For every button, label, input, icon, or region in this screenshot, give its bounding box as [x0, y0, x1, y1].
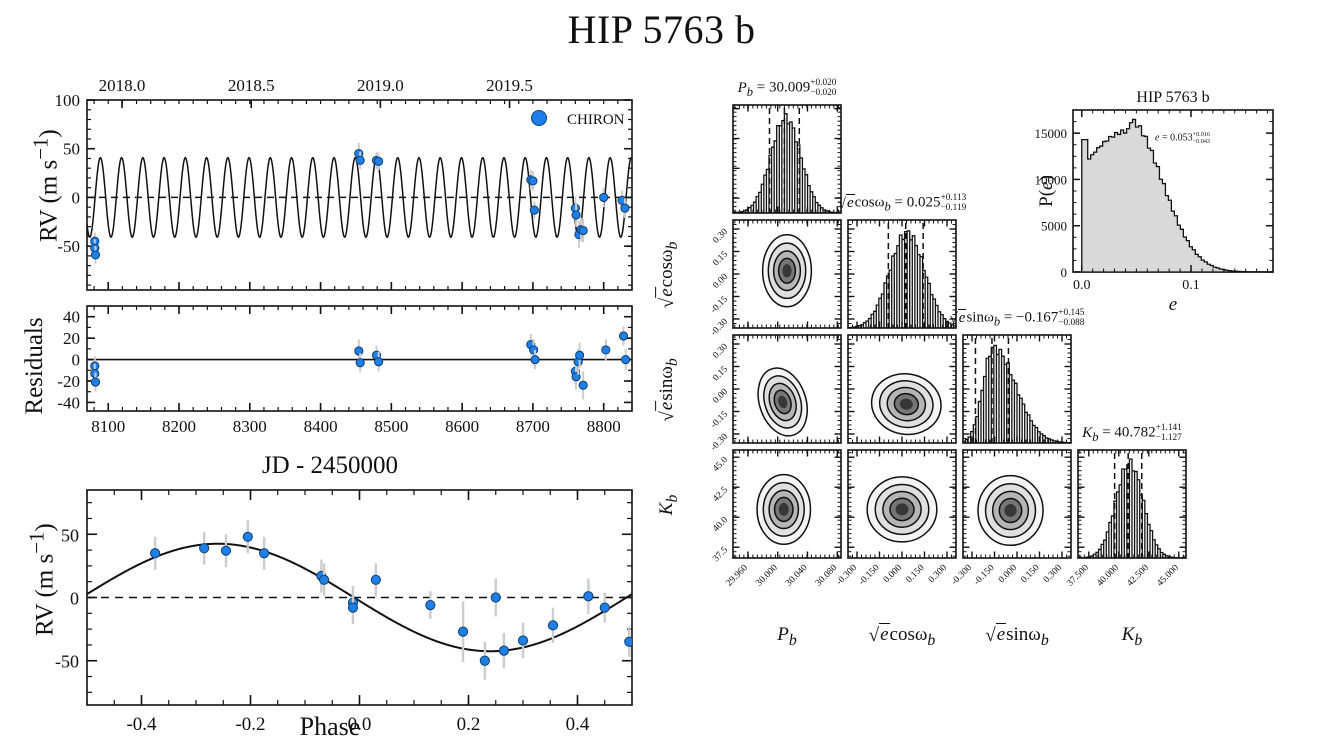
corner-hist-secosw [848, 231, 956, 328]
corner-ytick-label: 0.30 [711, 227, 730, 246]
residuals-xtick-label: 8800 [587, 417, 621, 436]
ecc-ytick-label: 15000 [1035, 126, 1068, 141]
residuals-xtick-label: 8200 [162, 417, 196, 436]
contour-group [750, 362, 816, 443]
corner-hist-sesinw [963, 345, 1071, 443]
phase-point [348, 603, 357, 612]
rv-point [91, 251, 99, 259]
corner-xtick-label: 30.000 [754, 563, 780, 589]
rv-ytick-label: 100 [55, 91, 81, 110]
rv-top-tick-label: 2019.0 [357, 76, 404, 95]
corner-xtick-label: 45.000 [1155, 563, 1181, 589]
phase-xtick-label: 0.0 [348, 714, 372, 735]
corner-hist-K [1078, 459, 1186, 558]
residuals-xtick-label: 8100 [91, 417, 125, 436]
corner-cell-0-2 [733, 335, 841, 443]
rv-point [375, 157, 383, 165]
corner-ytick-label: 0.15 [711, 249, 730, 268]
corner-xtick-label: 0.300 [927, 563, 949, 585]
ecc-inset-title: HIP 5763 b [1136, 89, 1209, 106]
phase-plot-axes: 500-50-0.4-0.20.00.20.4 [55, 490, 634, 735]
ecc-xtick-label: 0.1 [1182, 278, 1200, 293]
phase-point [371, 575, 380, 584]
page-title: HIP 5763 b [0, 6, 1323, 53]
phase-xtick-label: 0.2 [457, 714, 481, 735]
rv-ytick-label: -50 [57, 237, 80, 256]
corner-cell-1-2 [848, 335, 956, 443]
corner-panel-group: -0.30-0.150.000.150.30-0.30-0.150.000.15… [655, 75, 1323, 751]
corner-xtick-label: 42.500 [1125, 563, 1151, 589]
phase-point [458, 627, 467, 636]
residuals-point [576, 351, 584, 359]
residuals-point [375, 358, 383, 366]
corner-xtick-label: 37.500 [1065, 563, 1091, 589]
corner-cell-2-3 [963, 450, 1071, 558]
corner-cell-0-0 [733, 105, 841, 213]
corner-xtick-label: -0.150 [857, 563, 882, 588]
contour-group [763, 235, 812, 307]
residuals-ytick-label: -20 [57, 372, 80, 391]
corner-ytick-label: -0.30 [709, 432, 730, 453]
corner-xtick-label: -0.300 [835, 563, 860, 588]
corner-ytick-label: -0.15 [709, 409, 730, 430]
rv-top-tick-label: 2018.5 [228, 76, 275, 95]
rv-top-tick-label: 2018.0 [99, 76, 146, 95]
residuals-xtick-label: 8400 [304, 417, 338, 436]
phase-xtick-label: -0.4 [126, 714, 157, 735]
rv-point [600, 193, 608, 201]
residuals-point [356, 359, 364, 367]
corner-xtick-label: 30.080 [814, 563, 840, 589]
ecc-ytick-label: 0 [1061, 265, 1068, 280]
phase-point [499, 646, 508, 655]
phase-point [480, 656, 489, 665]
residuals-ytick-label: 20 [63, 329, 80, 348]
residuals-axes: 40200-20-4081008200830084008500860087008… [57, 306, 632, 436]
rv-legend: CHIRON [532, 111, 625, 129]
phase-ytick-label: -50 [55, 652, 79, 672]
corner-ytick-label: 37.5 [711, 545, 730, 564]
phase-point [491, 593, 500, 602]
corner-xtick-label: 40.000 [1095, 563, 1121, 589]
corner-xtick-label: -0.300 [950, 563, 975, 588]
phase-point [426, 600, 435, 609]
rv-point [579, 226, 587, 234]
rv-ytick-label: 50 [63, 140, 80, 159]
phase-point [243, 532, 252, 541]
phase-point [260, 549, 269, 558]
phase-point [221, 546, 230, 555]
corner-cell-3-3 [1078, 450, 1186, 558]
contour-group [978, 476, 1043, 546]
phase-ytick-label: 50 [61, 525, 79, 545]
corner-xtick-label: -0.150 [972, 563, 997, 588]
phase-xtick-label: 0.4 [566, 714, 590, 735]
corner-xtick-label: 29.960 [724, 563, 750, 589]
phase-point [518, 636, 527, 645]
phase-point [319, 575, 328, 584]
phase-xtick-label: -0.2 [235, 714, 265, 735]
residuals-xtick-label: 8700 [516, 417, 550, 436]
corner-ytick-label: 40.0 [711, 515, 730, 534]
corner-ytick-label: 0.30 [711, 342, 730, 361]
corner-xtick-label: 0.150 [1019, 563, 1041, 585]
legend-marker-chiron [532, 111, 547, 126]
rv-point [621, 204, 629, 212]
contour-group [757, 475, 810, 545]
residuals-ytick-label: 40 [63, 308, 80, 327]
corner-cell-0-3 [733, 450, 841, 558]
residuals-xtick-label: 8600 [445, 417, 479, 436]
rv-model-curve [87, 158, 632, 237]
residuals-point [619, 332, 627, 340]
corner-xtick-label: 0.150 [904, 563, 926, 585]
corner-xtick-label: 0.300 [1042, 563, 1064, 585]
phase-point [200, 544, 209, 553]
rv-ytick-label: 0 [72, 188, 81, 207]
corner-ytick-label: -0.15 [709, 294, 730, 315]
corner-ytick-label: 0.15 [711, 364, 730, 383]
rv-timeseries-axes: 100500-502018.02018.52019.02019.5CHIRON [55, 76, 633, 290]
residuals-ytick-label: -40 [57, 393, 80, 412]
residuals-point [91, 378, 99, 386]
residuals-xtick-label: 8300 [233, 417, 267, 436]
residuals-point [602, 346, 610, 354]
residuals-ytick-label: 0 [72, 351, 81, 370]
residuals-point [355, 347, 363, 355]
phase-point [151, 549, 160, 558]
corner-hist-P [733, 114, 841, 213]
corner-ytick-label: 45.0 [711, 455, 730, 474]
residuals-data-points [91, 326, 630, 399]
phase-point [584, 592, 593, 601]
phase-ytick-label: 0 [70, 589, 79, 609]
rv-point [356, 156, 364, 164]
corner-cell-2-2 [963, 335, 1071, 443]
corner-ytick-label: 42.5 [711, 485, 730, 504]
contour-group [867, 368, 946, 440]
ecc-xtick-label: 0.0 [1073, 278, 1091, 293]
legend-label-chiron: CHIRON [567, 112, 625, 128]
residuals-point [530, 346, 538, 354]
residuals-point [531, 355, 539, 363]
corner-cell-1-3 [848, 450, 956, 558]
ecc-ytick-label: 5000 [1041, 219, 1067, 234]
eccentricity-inset: 0500010000150000.00.1HIP 5763 b [1035, 89, 1274, 293]
corner-xtick-label: 0.000 [882, 563, 904, 585]
ecc-ytick-label: 10000 [1035, 172, 1068, 187]
figure-canvas: HIP 5763 b 100500-502018.02018.52019.020… [0, 0, 1323, 751]
corner-xtick-label: 0.000 [997, 563, 1019, 585]
contour-group [867, 477, 937, 542]
corner-cell-0-1 [733, 220, 841, 328]
residuals-point [579, 381, 587, 389]
residuals-point [622, 355, 630, 363]
rv-point [572, 211, 580, 219]
rv-top-tick-label: 2019.5 [486, 76, 533, 95]
corner-cell-1-1 [848, 220, 956, 328]
corner-ytick-label: 0.00 [711, 387, 730, 406]
residuals-xtick-label: 8500 [374, 417, 408, 436]
rv-point [530, 206, 538, 214]
corner-ytick-label: 0.00 [711, 272, 730, 291]
corner-xtick-label: 30.040 [784, 563, 810, 589]
rv-point [529, 177, 537, 185]
corner-ytick-label: -0.30 [709, 317, 730, 338]
phase-point [600, 603, 609, 612]
phase-point [548, 621, 557, 630]
left-panel-group: 100500-502018.02018.52019.02019.5CHIRON4… [0, 70, 660, 751]
